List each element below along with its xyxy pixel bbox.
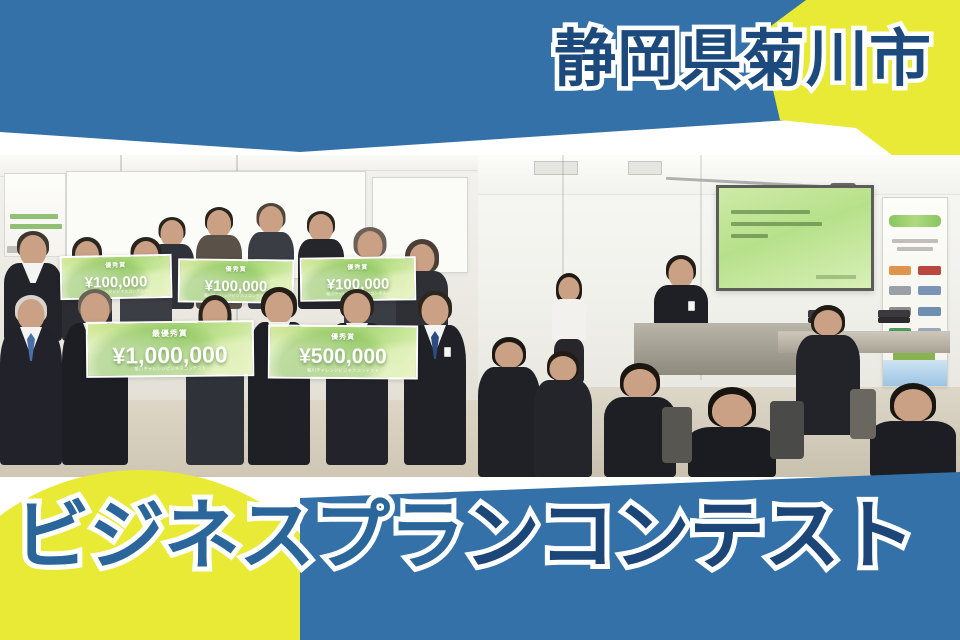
person-body — [552, 299, 586, 341]
chair-icon — [770, 401, 804, 459]
award-check-grand-prize: 最優秀賞 ¥1,000,000 菊川チャレンジビジネスコンテスト — [86, 320, 255, 378]
check-title: 優秀賞 — [62, 259, 170, 270]
sponsor-banner — [882, 197, 948, 387]
person-head — [344, 293, 371, 324]
audience-member — [478, 337, 540, 477]
person-body — [688, 427, 776, 477]
check-footer: 菊川チャレンジビジネスコンテスト — [270, 367, 416, 374]
ceiling-vent-icon — [628, 161, 662, 175]
check-title: 最優秀賞 — [88, 327, 252, 340]
ceiling-vent-icon — [534, 161, 578, 175]
slide-line-3 — [731, 234, 767, 238]
sponsor-logo — [918, 266, 941, 275]
slide-line-1 — [731, 210, 810, 214]
banner-caption-line — [897, 247, 933, 251]
name-badge — [444, 347, 451, 357]
laptop-lid — [878, 310, 910, 317]
person-head — [550, 356, 577, 381]
audience-member — [688, 387, 776, 477]
person-head — [18, 299, 45, 330]
person-body — [478, 367, 540, 477]
person-head — [495, 342, 523, 368]
laptop-icon — [878, 317, 910, 323]
page-title-city: 静岡県菊川市 — [554, 28, 932, 90]
photo-strip: 優秀賞 ¥100,000 菊川チャレンジビジネスコンテスト 優秀賞 ¥100,0… — [0, 155, 960, 477]
person-head — [712, 394, 752, 428]
sponsor-logo — [918, 286, 941, 295]
check-title: 優秀賞 — [302, 261, 414, 272]
person-head — [20, 235, 47, 266]
person-head — [814, 310, 842, 336]
person-head — [894, 389, 932, 422]
poster-canvas: 優秀賞 ¥100,000 菊川チャレンジビジネスコンテスト 優秀賞 ¥100,0… — [0, 0, 960, 640]
check-title: 優秀賞 — [270, 331, 416, 342]
chair-icon — [850, 389, 876, 439]
person-head — [559, 277, 580, 301]
ceiling-panel — [200, 155, 478, 171]
slide-footer — [816, 275, 856, 279]
person-head — [422, 295, 449, 326]
person-body — [534, 380, 592, 477]
sponsor-logo — [889, 286, 911, 295]
award-check-second-prize: 優秀賞 ¥500,000 菊川チャレンジビジネスコンテスト — [268, 324, 418, 379]
person-head — [207, 210, 231, 238]
page-title-contest: ビジネスプランコンテスト — [14, 498, 914, 574]
banner-line-2 — [10, 224, 62, 229]
slide-line-2 — [731, 222, 822, 226]
projection-screen — [716, 185, 874, 291]
presentation-room-photo — [478, 155, 960, 477]
check-footer: 菊川チャレンジビジネスコンテスト — [88, 365, 252, 373]
presentation-slide — [719, 188, 871, 288]
page-title-contest-part-1: ビジネスプラ — [14, 491, 464, 580]
kikugawa-logo — [889, 215, 940, 227]
chair-icon — [662, 407, 692, 463]
page-title-contest-part-2: ンコンテスト — [464, 491, 914, 580]
banner-caption-line — [892, 239, 938, 243]
person-front-row — [0, 295, 62, 465]
check-title: 優秀賞 — [180, 264, 292, 274]
award-ceremony-photo: 優秀賞 ¥100,000 菊川チャレンジビジネスコンテスト 優秀賞 ¥100,0… — [0, 155, 478, 477]
person-head — [669, 259, 694, 288]
person-body — [870, 421, 956, 477]
person-head — [358, 231, 383, 260]
sponsor-logo — [918, 307, 941, 316]
person-head — [259, 206, 283, 234]
banner-line-1 — [10, 214, 58, 219]
person-head — [624, 369, 657, 399]
check-amount: ¥500,000 — [270, 344, 416, 369]
audience-member — [870, 383, 956, 477]
name-badge — [688, 301, 695, 311]
person-head — [265, 292, 293, 324]
sponsor-logo — [889, 266, 911, 275]
person-head — [309, 214, 333, 242]
audience-member — [534, 351, 592, 477]
